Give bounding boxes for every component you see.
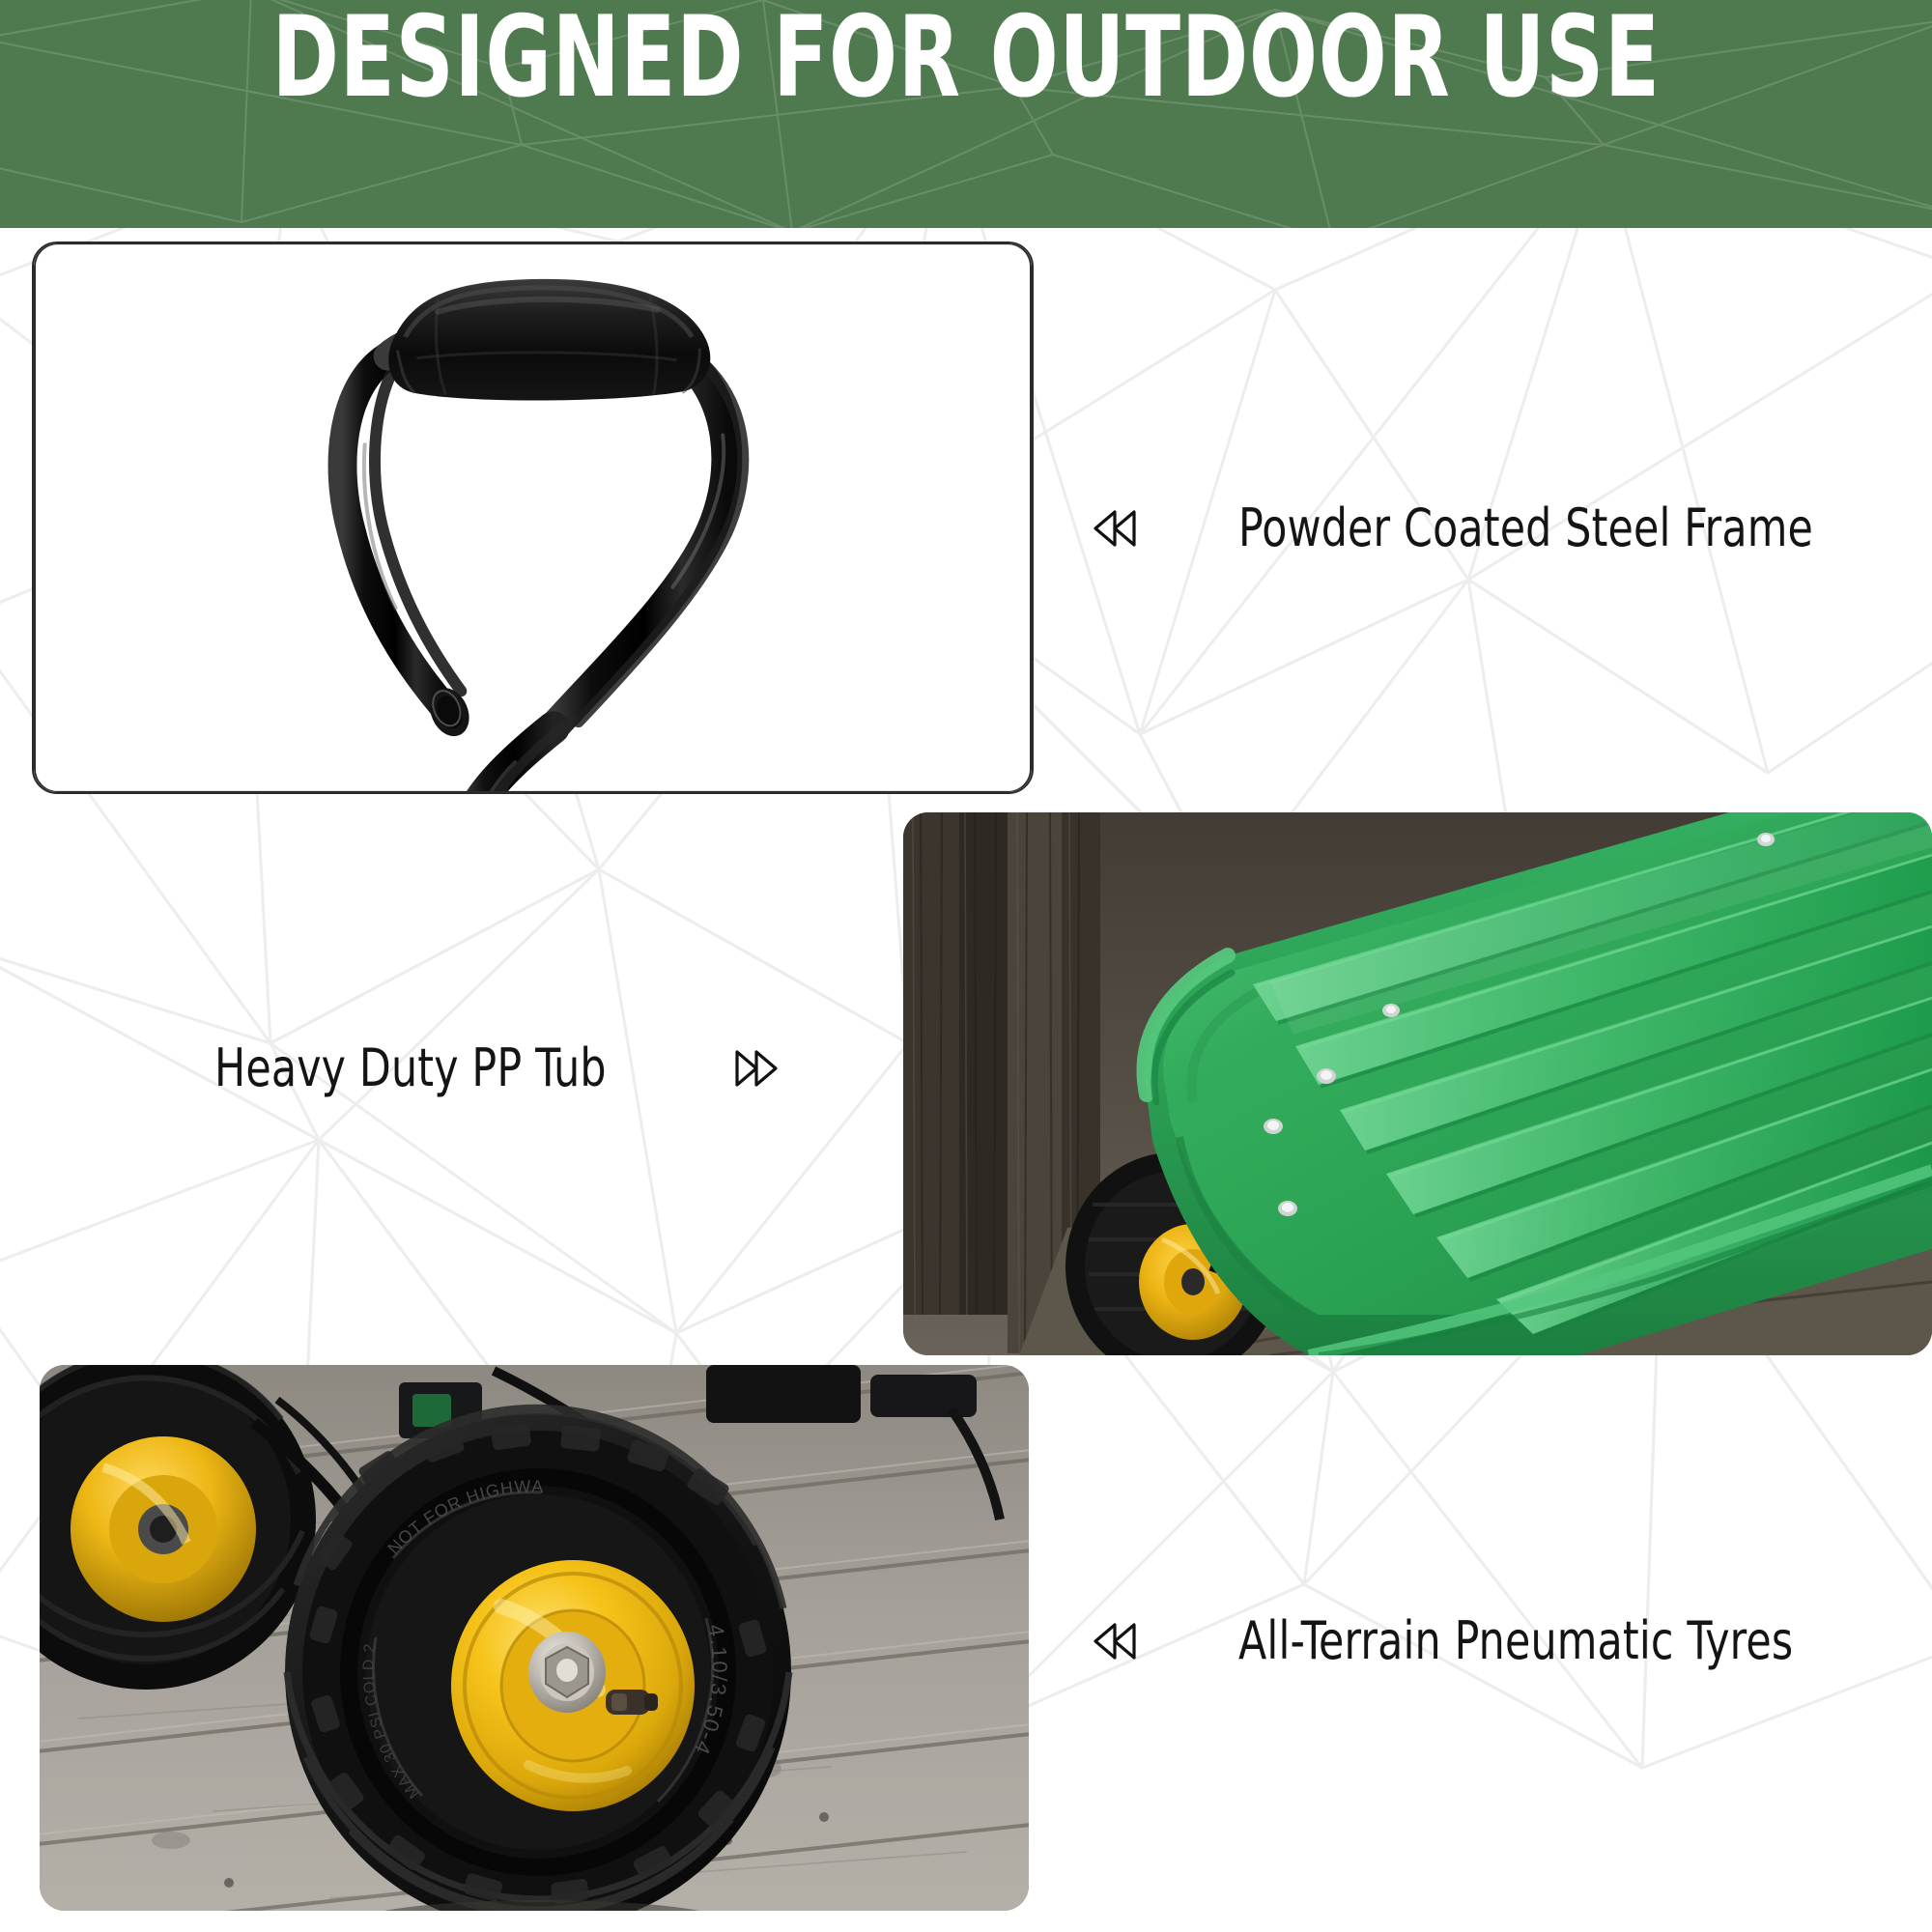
infographic-page: DESIGNED FOR OUTDOOR USE: [0, 0, 1932, 1932]
tyres-photo: NOT FOR HIGHWAY USE 4.10/3.50-4 MAX 30 P…: [40, 1365, 1029, 1911]
callout-powder-coated-steel-frame: Powder Coated Steel Frame: [1090, 502, 1891, 554]
page-title-text: DESIGNED FOR OUTDOOR USE: [271, 2, 1660, 114]
handle-photo-panel: [32, 241, 1034, 794]
tyres-photo-panel: NOT FOR HIGHWAY USE 4.10/3.50-4 MAX 30 P…: [40, 1365, 1029, 1911]
callout-heavy-duty-pp-tub: Heavy Duty PP Tub: [214, 1042, 781, 1094]
tub-photo-panel: [903, 812, 1932, 1355]
page-title: DESIGNED FOR OUTDOOR USE: [0, 58, 1932, 170]
handle-photo: [34, 243, 1032, 792]
callout-all-terrain-pneumatic-tyres: All-Terrain Pneumatic Tyres: [1090, 1615, 1869, 1667]
double-chevron-right-icon: [729, 1042, 781, 1094]
callout-label: Heavy Duty PP Tub: [214, 1042, 607, 1094]
callout-label: Powder Coated Steel Frame: [1238, 502, 1813, 554]
header-banner: DESIGNED FOR OUTDOOR USE: [0, 0, 1932, 228]
callout-label: All-Terrain Pneumatic Tyres: [1238, 1615, 1793, 1667]
double-chevron-left-icon: [1090, 1615, 1142, 1667]
tub-photo: [903, 812, 1932, 1355]
double-chevron-left-icon: [1090, 502, 1142, 554]
